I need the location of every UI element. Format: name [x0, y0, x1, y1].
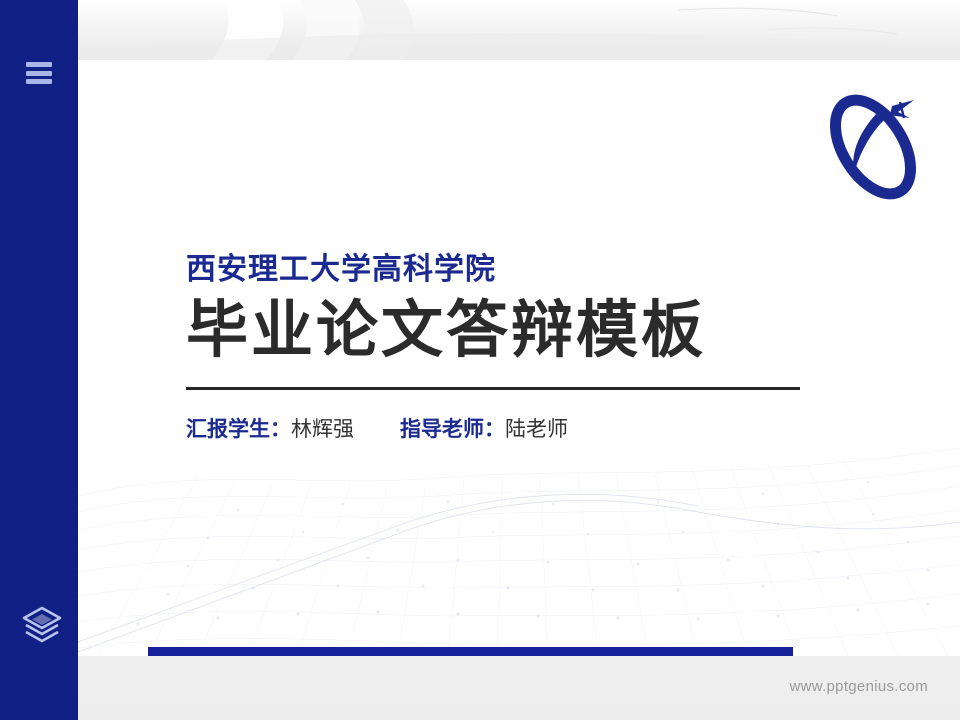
- presenter-name: 林辉强: [291, 418, 354, 441]
- university-emblem-icon: [814, 88, 932, 206]
- presenter-info-row: 汇报学生：林辉强指导老师：陆老师: [186, 416, 886, 443]
- hamburger-menu-icon[interactable]: [26, 62, 52, 84]
- menu-bar-3: [26, 79, 52, 84]
- footer-website-url: www.pptgenius.com: [790, 678, 929, 695]
- page-title: 毕业论文答辩模板: [186, 296, 886, 365]
- menu-bar-1: [26, 62, 52, 67]
- left-sidebar: [0, 0, 78, 720]
- advisor-label: 指导老师：: [400, 418, 505, 441]
- top-decorative-swoosh: [78, 0, 960, 62]
- presentation-slide: 西安理工大学高科学院 毕业论文答辩模板 汇报学生：林辉强指导老师：陆老师 www…: [0, 0, 960, 720]
- title-divider: [186, 387, 800, 390]
- menu-bar-2: [26, 71, 52, 76]
- slide-content-card: 西安理工大学高科学院 毕业论文答辩模板 汇报学生：林辉强指导老师：陆老师: [78, 60, 960, 656]
- wireframe-mesh-decoration: [78, 426, 960, 656]
- title-text-block: 西安理工大学高科学院 毕业论文答辩模板 汇报学生：林辉强指导老师：陆老师: [186, 252, 886, 444]
- stacked-layers-logo-icon[interactable]: [18, 600, 66, 648]
- advisor-name: 陆老师: [505, 418, 568, 441]
- bottom-accent-bar: [148, 647, 793, 656]
- presenter-label: 汇报学生：: [186, 418, 291, 441]
- university-name: 西安理工大学高科学院: [186, 252, 886, 288]
